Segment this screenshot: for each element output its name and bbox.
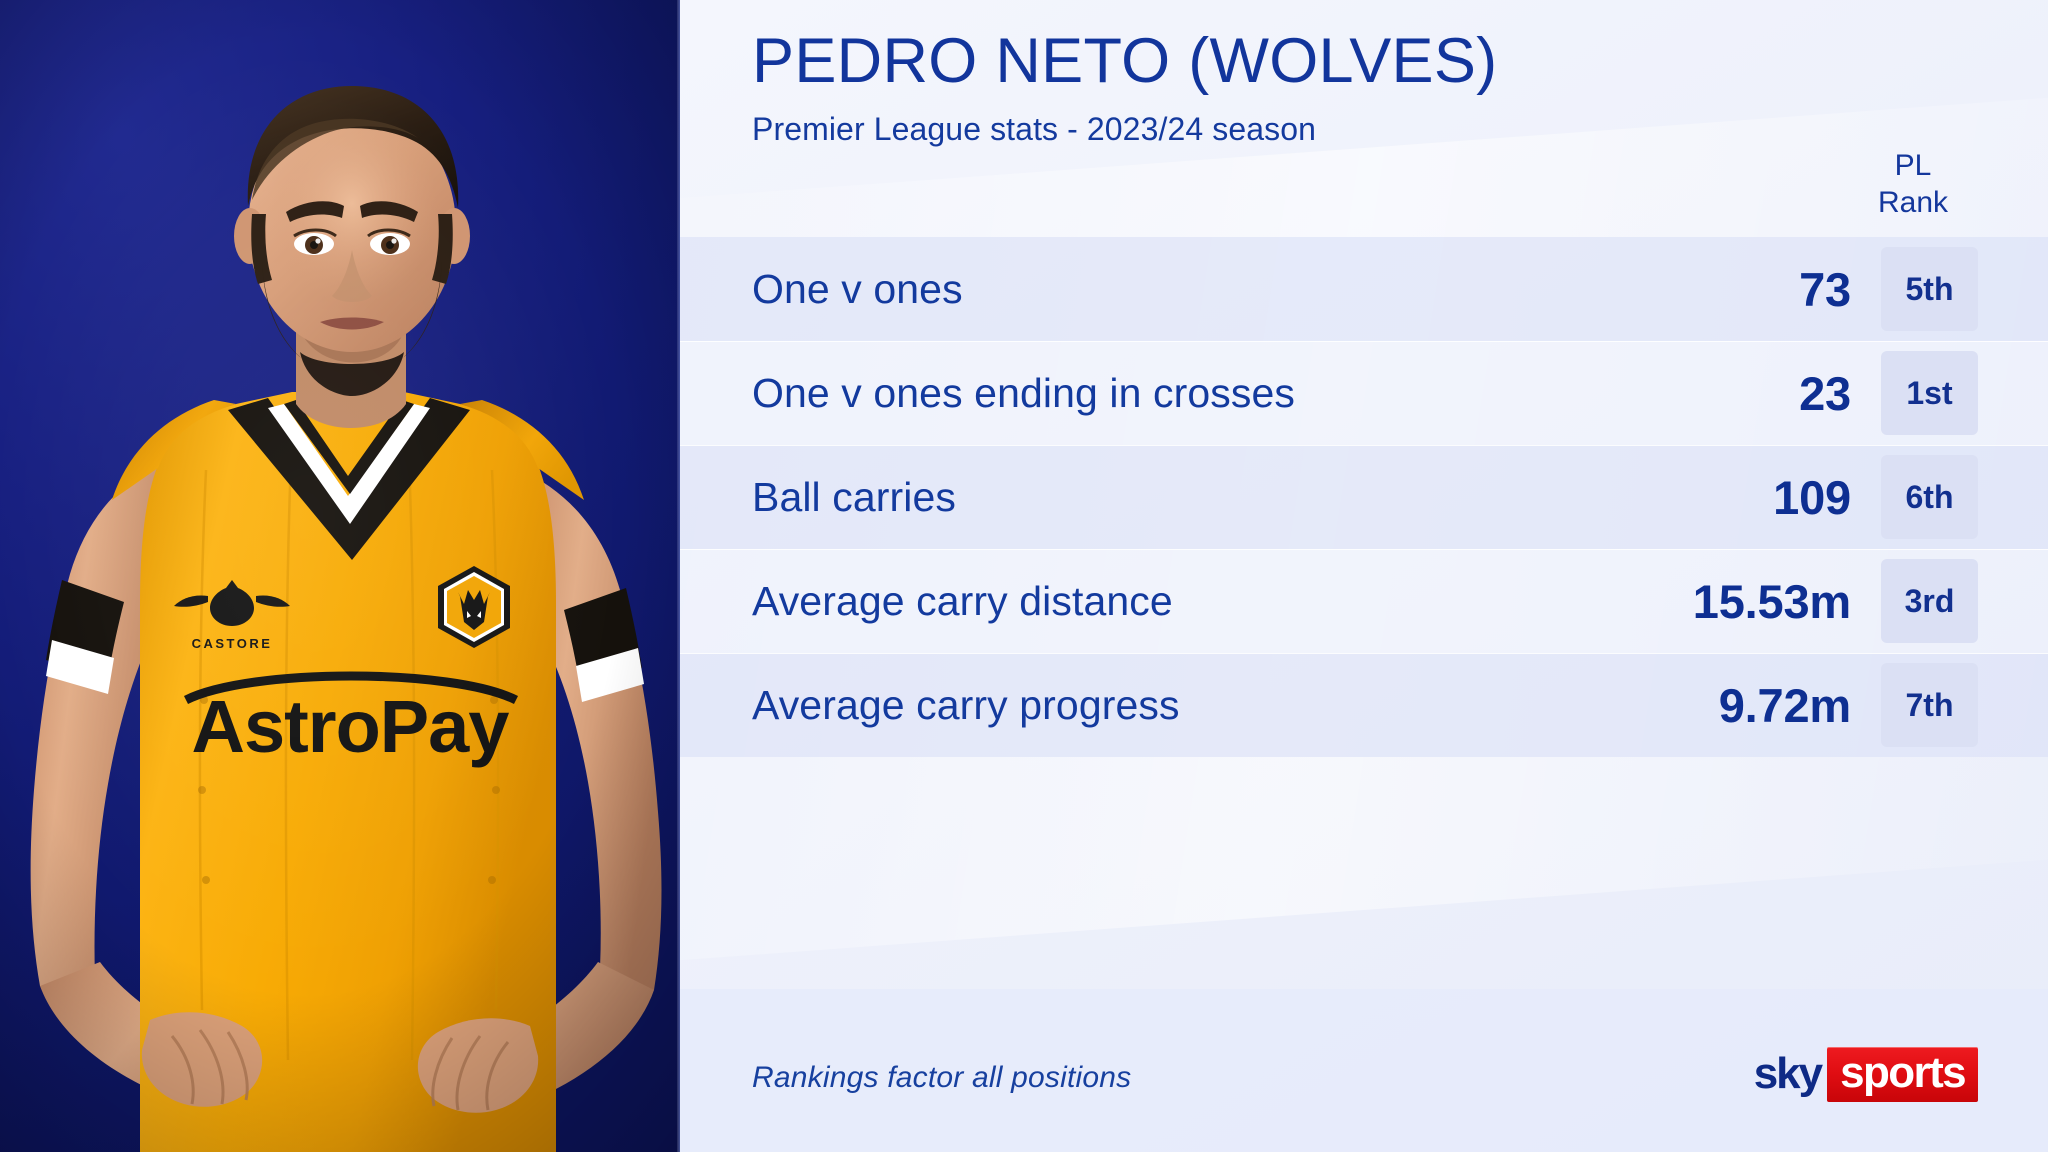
svg-text:AstroPay: AstroPay: [192, 685, 510, 768]
footer-block: Rankings factor all positions sky sports: [680, 989, 2048, 1152]
table-row: Ball carries 109 6th: [680, 445, 2048, 549]
status-badge: 7th: [1881, 663, 1978, 747]
stats-panel: PEDRO NETO (WOLVES) Premier League stats…: [680, 0, 2048, 1152]
astropay-sponsor: AstroPay: [186, 676, 516, 768]
status-badge: 1st: [1881, 351, 1978, 435]
page-subtitle: Premier League stats - 2023/24 season: [752, 111, 1982, 148]
stat-label: Average carry distance: [752, 578, 1693, 625]
status-badge: 3rd: [1881, 559, 1978, 643]
stat-label: One v ones: [752, 266, 1799, 313]
status-badge: 6th: [1881, 455, 1978, 539]
table-row: One v ones 73 5th: [680, 237, 2048, 341]
rank-column-header: PL Rank: [1848, 148, 1978, 221]
stat-value: 73: [1799, 262, 1851, 317]
table-row: Average carry distance 15.53m 3rd: [680, 549, 2048, 653]
rank-header-line2: Rank: [1848, 185, 1978, 222]
stat-value: 9.72m: [1719, 678, 1851, 733]
stat-label: Average carry progress: [752, 682, 1719, 729]
stat-value: 15.53m: [1693, 574, 1851, 629]
header-block: PEDRO NETO (WOLVES) Premier League stats…: [752, 28, 1982, 148]
sky-wordmark: sky: [1754, 1052, 1827, 1096]
stats-table: One v ones 73 5th One v ones ending in c…: [680, 237, 2048, 757]
table-row: Average carry progress 9.72m 7th: [680, 653, 2048, 757]
svg-text:CASTORE: CASTORE: [192, 636, 273, 651]
stat-label: One v ones ending in crosses: [752, 370, 1799, 417]
graphic-root: CASTORE AstroPay: [0, 0, 2048, 1152]
rank-header-line1: PL: [1848, 148, 1978, 185]
sports-badge: sports: [1827, 1047, 1978, 1102]
stat-label: Ball carries: [752, 474, 1773, 521]
page-title: PEDRO NETO (WOLVES): [752, 28, 1982, 95]
sky-sports-logo: sky sports: [1754, 1047, 1978, 1101]
player-photo-panel: CASTORE AstroPay: [0, 0, 680, 1152]
stat-value: 23: [1799, 366, 1851, 421]
stat-value: 109: [1773, 470, 1851, 525]
player-image: CASTORE AstroPay: [0, 0, 680, 1152]
table-row: One v ones ending in crosses 23 1st: [680, 341, 2048, 445]
status-badge: 5th: [1881, 247, 1978, 331]
sports-wordmark: sports: [1840, 1051, 1965, 1095]
footnote: Rankings factor all positions: [752, 1061, 1131, 1095]
